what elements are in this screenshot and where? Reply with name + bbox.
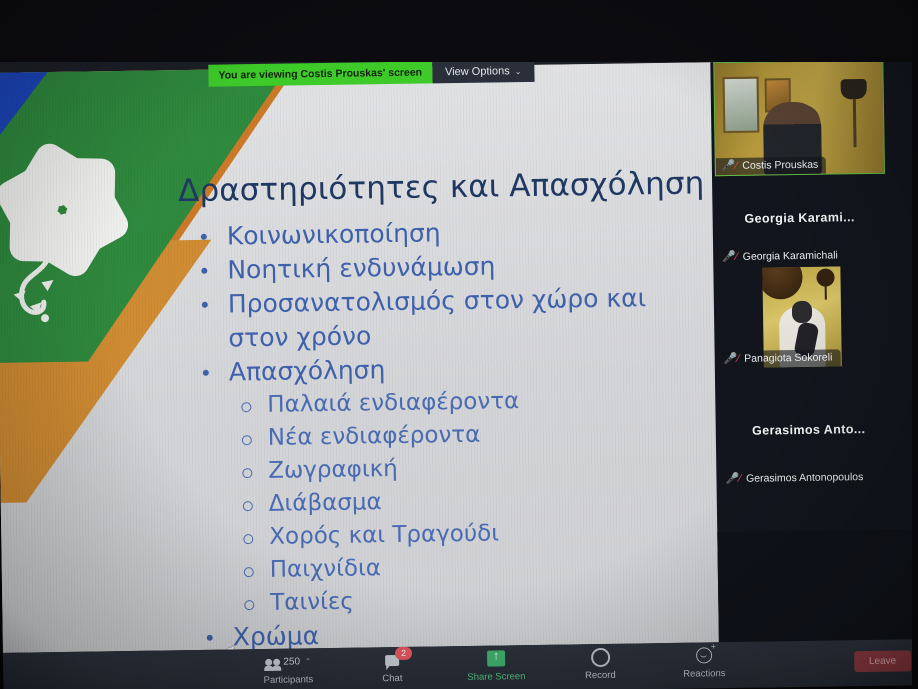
participant-center-name: Gerasimos Anto... bbox=[719, 422, 899, 439]
participant-name-label: 🎤⁄ Gerasimos Antonopoulos bbox=[719, 469, 871, 488]
mic-muted-icon: 🎤⁄ bbox=[722, 251, 738, 262]
participants-count: 250 bbox=[283, 656, 300, 667]
zoom-meeting-window: Δραστηριότητες και Απασχόληση Κοινωνικοπ… bbox=[0, 37, 918, 689]
sub-bullet-circle-icon bbox=[243, 534, 253, 544]
share-icon-row bbox=[463, 648, 529, 669]
bullet-dot-icon bbox=[201, 234, 207, 240]
bullet-text: Νοητική ενδυνάμωση bbox=[227, 251, 495, 284]
view-options-label: View Options bbox=[445, 65, 510, 78]
bullet-text: Προσανατολισμός στον χώρο και bbox=[228, 283, 647, 318]
bullet-text: Διάβασμα bbox=[269, 489, 382, 517]
monitor-bezel-top bbox=[0, 0, 918, 62]
bullet-text: Κοινωνικοποίηση bbox=[227, 218, 441, 250]
view-options-button[interactable]: View Options ⌄ bbox=[432, 60, 535, 84]
bullet-text: Νέα ενδιαφέροντα bbox=[268, 422, 481, 451]
bullet-text: Ζωγραφική bbox=[268, 456, 398, 484]
participants-icon-row: 250 ⌃ bbox=[255, 651, 321, 672]
record-label: Record bbox=[567, 669, 633, 681]
bullet-dot-icon bbox=[207, 635, 213, 641]
mic-muted-icon: 🎤⁄ bbox=[724, 353, 740, 364]
logo-swirl-icon bbox=[11, 253, 92, 332]
background-picture bbox=[723, 77, 760, 134]
chat-button[interactable]: 2 Chat bbox=[359, 650, 425, 685]
sub-bullet-circle-icon bbox=[241, 402, 251, 412]
chat-unread-badge: 2 bbox=[395, 647, 412, 660]
people-icon bbox=[265, 658, 280, 665]
participant-name: Gerasimos Antonopoulos bbox=[746, 471, 863, 485]
monitor-bezel-right bbox=[912, 0, 918, 689]
sub-bullet-circle-icon bbox=[244, 600, 254, 610]
toolbar-items: 250 ⌃ Participants 2 Chat S bbox=[255, 645, 737, 686]
sub-bullet-circle-icon bbox=[242, 468, 252, 478]
sub-bullet-circle-icon bbox=[243, 501, 253, 511]
share-screen-button[interactable]: Share Screen bbox=[463, 648, 529, 683]
mic-muted-icon: 🎤⁄ bbox=[722, 160, 738, 171]
sharing-status-pill: You are viewing Costis Prouskas' screen bbox=[208, 61, 432, 86]
participant-name: Costis Prouskas bbox=[742, 159, 818, 172]
reactions-button[interactable]: Reactions bbox=[671, 645, 737, 680]
record-circle-icon bbox=[590, 647, 609, 666]
reactions-icon-row bbox=[671, 645, 737, 666]
bullet-text: Χορός και Τραγούδι bbox=[269, 520, 499, 549]
bullet-text: Ταινίες bbox=[270, 589, 354, 616]
bullet-text: Χρώμα bbox=[233, 621, 320, 651]
leave-meeting-button[interactable]: Leave bbox=[854, 650, 912, 672]
record-icon-row bbox=[567, 646, 633, 667]
participant-name-label: 🎤⁄ Costis Prouskas bbox=[716, 157, 827, 176]
chat-icon-row: 2 bbox=[359, 650, 425, 671]
bullet-text: Απασχόληση bbox=[229, 355, 386, 386]
slide-bullet-list: Κοινωνικοποίηση Νοητική ενδυνάμωση Προσα… bbox=[193, 212, 740, 653]
bullet-dot-icon bbox=[203, 370, 209, 376]
reactions-label: Reactions bbox=[671, 668, 737, 680]
bullet-dot-icon bbox=[201, 268, 207, 274]
mic-muted-icon: 🎤⁄ bbox=[725, 473, 741, 484]
slide-title: Δραστηριότητες και Απασχόληση bbox=[178, 165, 738, 209]
participants-label: Participants bbox=[255, 674, 321, 686]
sub-bullet-circle-icon bbox=[244, 567, 254, 577]
background-lamp bbox=[841, 79, 867, 99]
chat-label: Chat bbox=[359, 673, 425, 685]
participant-name: Georgia Karamichali bbox=[743, 249, 838, 262]
background-wall-disc bbox=[762, 266, 802, 299]
participant-center-name: Georgia Karami... bbox=[716, 210, 884, 226]
participant-tile-gerasimos-antonopoulos[interactable]: Gerasimos Anto... 🎤⁄ Gerasimos Antonopou… bbox=[718, 390, 899, 489]
smiley-plus-icon bbox=[696, 647, 712, 663]
sub-bullet-circle-icon bbox=[242, 435, 252, 445]
participant-name-label: 🎤⁄ Panagiota Sokoreli bbox=[718, 349, 841, 368]
participant-tile-costis-prouskas[interactable]: 🎤⁄ Costis Prouskas bbox=[713, 60, 885, 177]
bullet-dot-icon bbox=[202, 302, 208, 308]
background-lamp-stem bbox=[853, 99, 857, 147]
share-screen-icon bbox=[487, 650, 505, 666]
bullet-text: Παιχνίδια bbox=[270, 555, 382, 583]
participant-head bbox=[792, 301, 812, 323]
background-wall-disc-small bbox=[816, 268, 834, 286]
participant-name-label: 🎤⁄ Georgia Karamichali bbox=[716, 247, 846, 266]
participant-name: Panagiota Sokoreli bbox=[744, 351, 832, 364]
share-screen-label: Share Screen bbox=[463, 671, 529, 683]
pinwheel-logo-icon bbox=[2, 149, 124, 271]
chevron-up-icon[interactable]: ⌃ bbox=[305, 657, 311, 665]
participants-button[interactable]: 250 ⌃ Participants bbox=[255, 651, 321, 686]
chevron-down-icon: ⌄ bbox=[515, 67, 522, 76]
shared-screen-area[interactable]: Δραστηριότητες και Απασχόληση Κοινωνικοπ… bbox=[0, 61, 779, 652]
bullet-text: Παλαιά ενδιαφέροντα bbox=[267, 388, 519, 418]
participant-tile-georgia-karamichali[interactable]: Georgia Karami... 🎤⁄ Georgia Karamichali bbox=[715, 180, 884, 266]
participant-tile-panagiota-sokoreli[interactable]: 🎤⁄ Panagiota Sokoreli bbox=[716, 266, 886, 386]
photographed-monitor: Δραστηριότητες και Απασχόληση Κοινωνικοπ… bbox=[0, 0, 918, 689]
participant-video-rail[interactable]: 🎤⁄ Costis Prouskas Georgia Karami... 🎤⁄ … bbox=[710, 59, 918, 642]
record-button[interactable]: Record bbox=[567, 646, 633, 681]
presentation-slide: Δραστηριότητες και Απασχόληση Κοινωνικοπ… bbox=[0, 61, 779, 652]
